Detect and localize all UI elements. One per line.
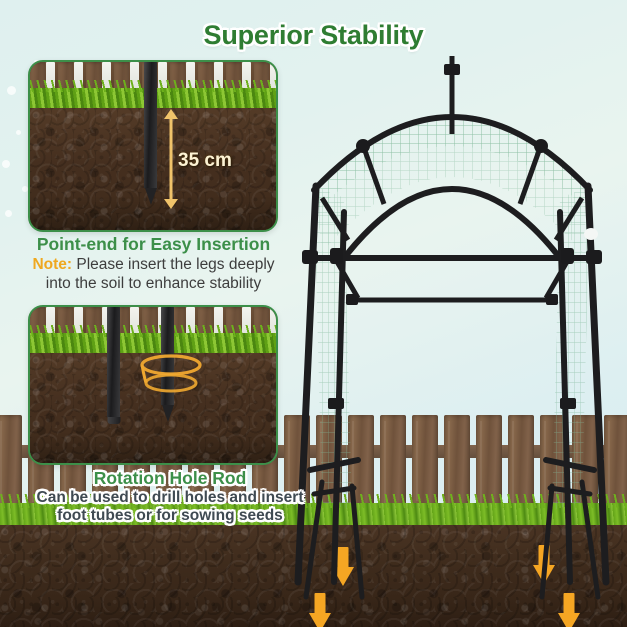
ground-stake-right-2 — [542, 486, 552, 597]
depth-measure-arrow — [164, 110, 178, 208]
panel-rotation-hole-rod — [28, 305, 278, 465]
ground-stake-left-2 — [352, 486, 362, 597]
pointed-leg-stake — [144, 60, 157, 188]
ground-stake-right — [582, 482, 598, 597]
rotation-desc-line1: Can be used to drill holes and insert — [0, 489, 340, 507]
flat-end-rod — [107, 305, 120, 417]
leg-outer-right — [588, 186, 606, 582]
apex-connector — [444, 64, 460, 75]
caption-note: Note: Please insert the legs deeply into… — [0, 256, 307, 294]
caption-rotation-hole-rod: Rotation Hole Rod — [0, 468, 340, 489]
page-title: Superior Stability — [0, 20, 627, 51]
panel-point-end: 35 cm — [28, 60, 278, 232]
note-text-line2: into the soil to enhance stability — [0, 275, 307, 294]
infographic-canvas: Superior Stability — [0, 0, 627, 627]
note-text-line1: Please insert the legs deeply — [76, 256, 274, 273]
garden-arch-trellis — [292, 62, 612, 602]
note-label: Note: — [32, 256, 72, 273]
depth-measure-label: 35 cm — [178, 150, 232, 172]
rotation-swirl-icon — [134, 352, 208, 397]
rotation-desc-line2: foot tubes or for sowing seeds — [0, 507, 340, 525]
caption-point-end: Point-end for Easy Insertion — [0, 234, 307, 255]
